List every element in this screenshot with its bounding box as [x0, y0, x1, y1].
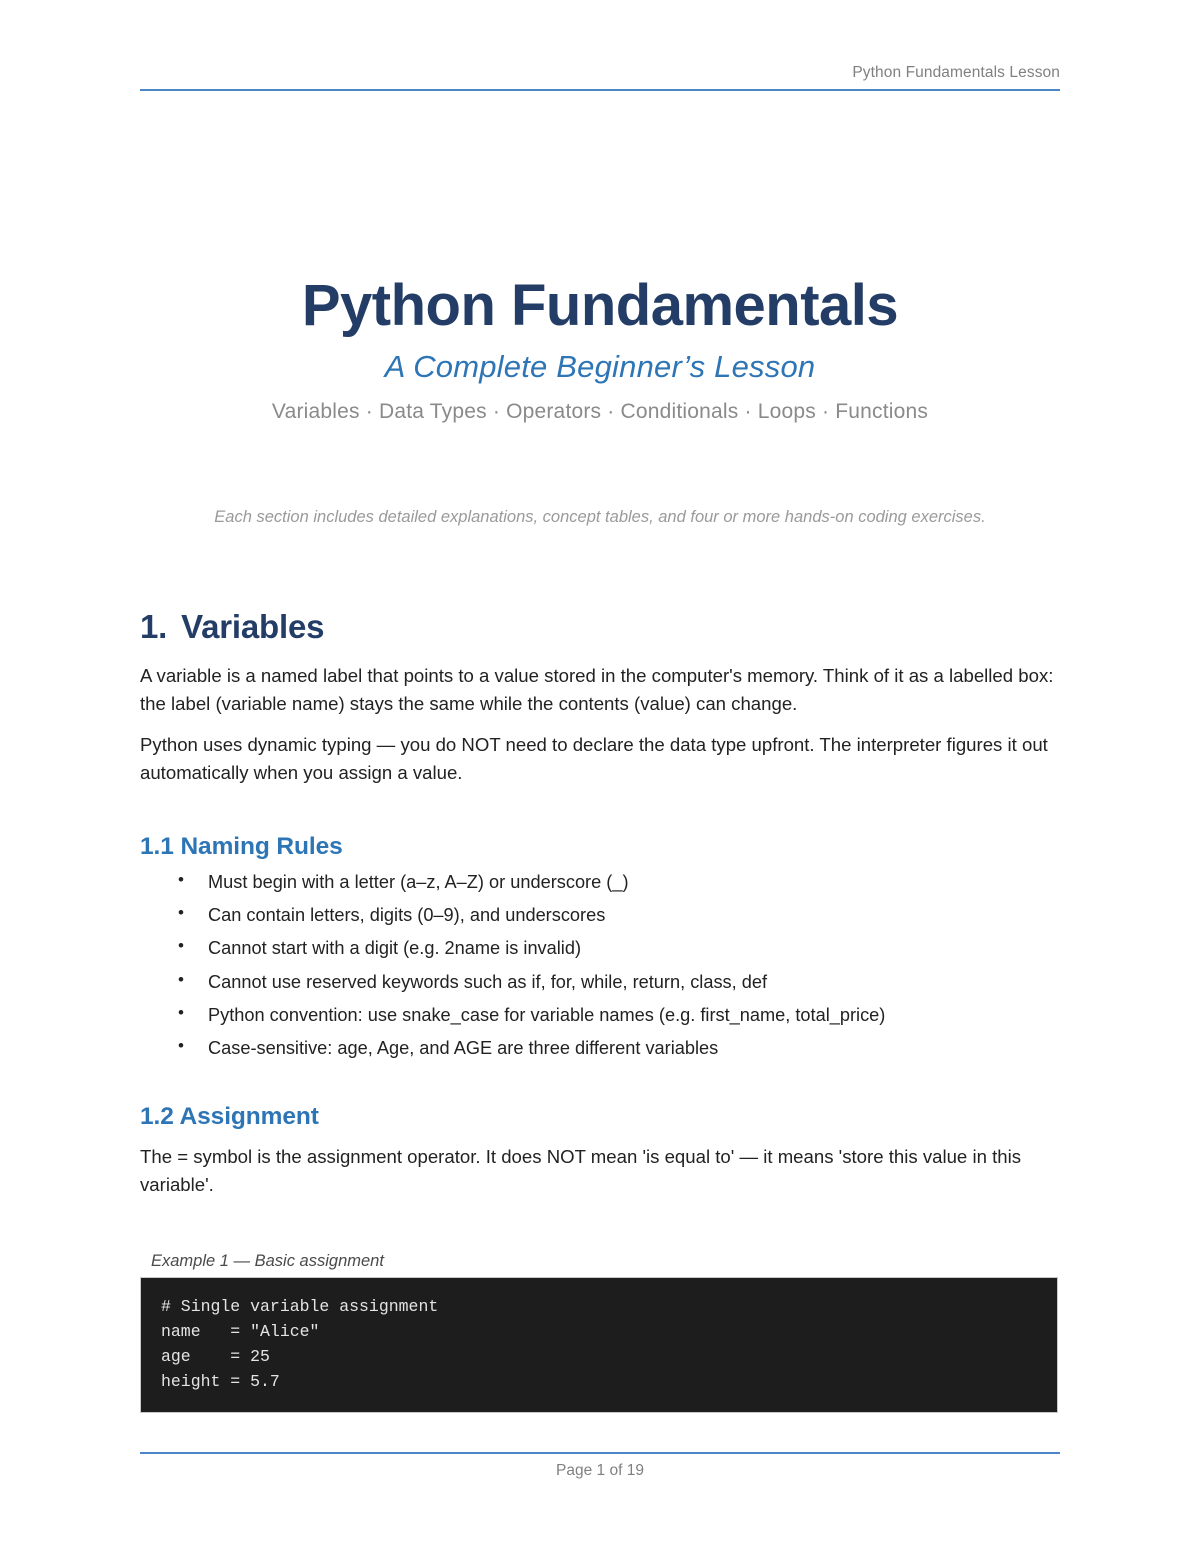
page-header: Python Fundamentals Lesson [140, 64, 1060, 91]
subsection-heading-assignment: 1.2 Assignment [140, 1103, 1060, 1131]
document-title: Python Fundamentals [0, 275, 1200, 336]
subsection-heading-naming-rules: 1.1 Naming Rules [140, 833, 1060, 861]
naming-rules-list: Must begin with a letter (a–z, A–Z) or u… [140, 873, 1060, 1057]
document-page: Python Fundamentals Lesson Python Fundam… [0, 0, 1200, 1553]
code-text: # Single variable assignment name = "Ali… [161, 1294, 1037, 1394]
section-title: Variables [181, 608, 324, 645]
list-item: Cannot use reserved keywords such as if,… [140, 973, 1060, 991]
document-content: 1.Variables A variable is a named label … [140, 608, 1060, 1413]
example-caption: Example 1 — Basic assignment [140, 1252, 1060, 1271]
section-paragraph: Python uses dynamic typing — you do NOT … [140, 731, 1060, 788]
section-number: 1. [140, 608, 167, 645]
code-block: # Single variable assignment name = "Ali… [140, 1277, 1058, 1413]
list-item: Case-sensitive: age, Age, and AGE are th… [140, 1039, 1060, 1057]
document-subtitle: A Complete Beginner’s Lesson [0, 348, 1200, 387]
code-example-block: Example 1 — Basic assignment # Single va… [140, 1252, 1060, 1413]
list-item: Can contain letters, digits (0–9), and u… [140, 906, 1060, 924]
page-footer: Page 1 of 19 [140, 1452, 1060, 1480]
section-heading-variables: 1.Variables [140, 608, 1060, 646]
document-topics: Variables · Data Types · Operators · Con… [0, 400, 1200, 424]
title-block: Python Fundamentals A Complete Beginner’… [0, 275, 1200, 424]
page-number: Page 1 of 19 [140, 1454, 1060, 1480]
list-item: Cannot start with a digit (e.g. 2name is… [140, 939, 1060, 957]
header-divider [140, 89, 1060, 91]
header-title: Python Fundamentals Lesson [140, 64, 1060, 89]
document-note: Each section includes detailed explanati… [180, 505, 1020, 530]
list-item: Python convention: use snake_case for va… [140, 1006, 1060, 1024]
section-paragraph: A variable is a named label that points … [140, 662, 1060, 719]
subsection-paragraph: The = symbol is the assignment operator.… [140, 1143, 1060, 1200]
list-item: Must begin with a letter (a–z, A–Z) or u… [140, 873, 1060, 891]
